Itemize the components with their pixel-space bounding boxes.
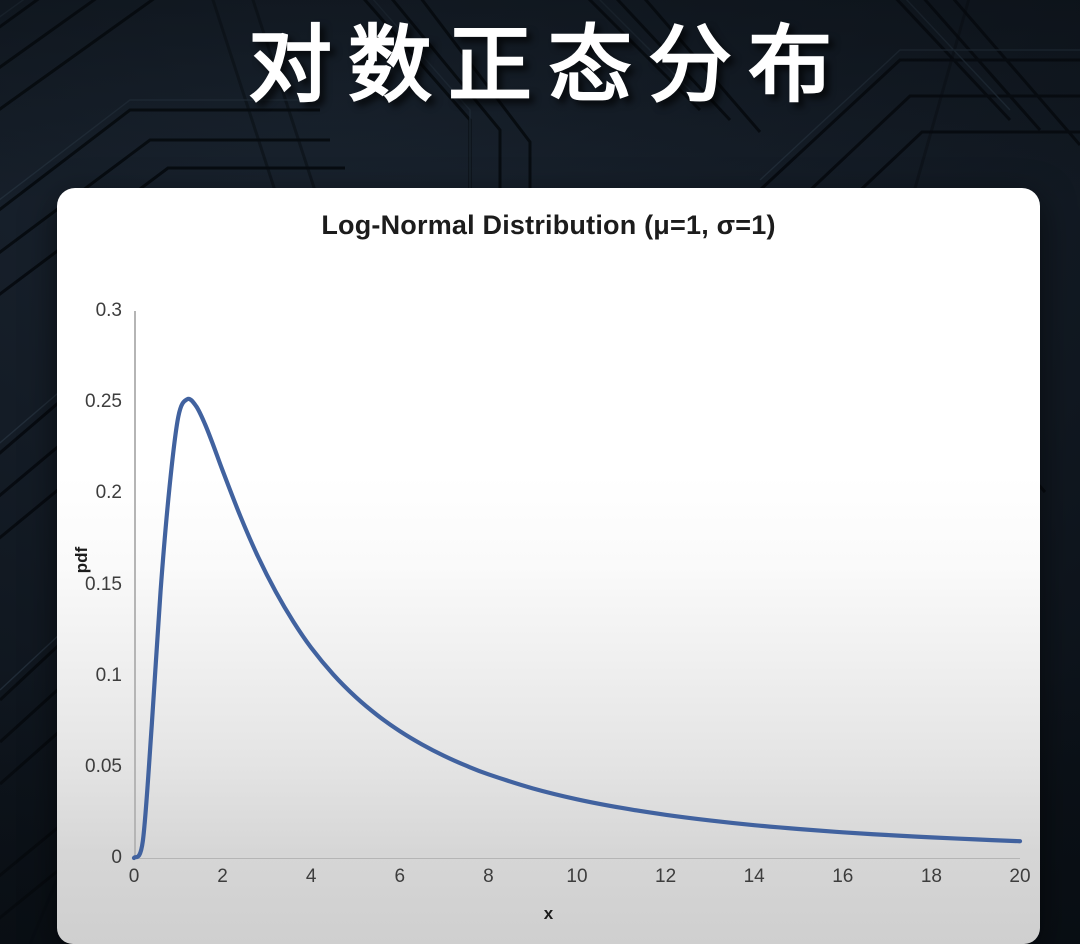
chart-card: Log-Normal Distribution (μ=1, σ=1) 00.05… bbox=[57, 188, 1040, 944]
plot-area: 00.050.10.150.20.250.3 02468101214161820… bbox=[57, 188, 1040, 944]
lognormal-curve bbox=[57, 188, 1040, 944]
page-title: 对数正态分布 bbox=[0, 20, 1080, 111]
pdf-curve-path bbox=[134, 399, 1020, 858]
